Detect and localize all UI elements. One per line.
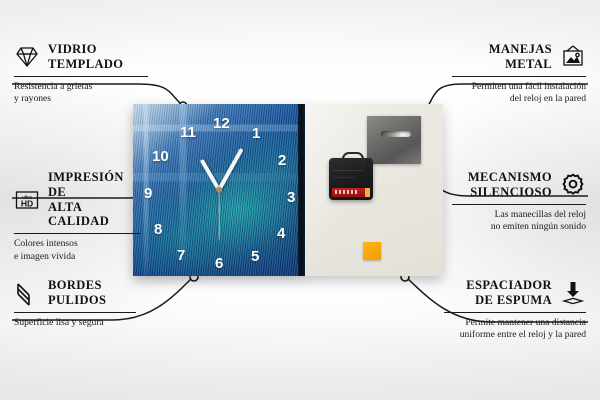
callout-espaciador-espuma: ESPACIADORDE ESPUMA Permite mantener una… [444,278,586,342]
clock-numeral-11: 11 [180,125,196,140]
clock-numeral-2: 2 [278,153,286,168]
callout-vidrio-templado: VIDRIOTEMPLADO Resistencia a grietasy ra… [14,42,148,106]
clock-face-front: 12 1 2 3 4 5 6 7 8 9 10 11 [133,104,305,276]
clock-numeral-6: 6 [215,256,223,271]
clock-second-hand [218,190,219,240]
callout-header: VIDRIOTEMPLADO [14,42,148,72]
callout-description: Permite mantener una distanciauniforme e… [444,317,586,342]
clock-numeral-1: 1 [252,126,260,141]
clock-numeral-12: 12 [213,116,230,131]
clock-numeral-10: 10 [152,149,169,164]
callout-description: Resistencia a grietasy rayones [14,81,148,106]
clock-numeral-4: 4 [277,226,285,241]
down-arrow-stack-icon [560,280,586,306]
clock-numeral-3: 3 [287,190,295,205]
battery-terminal [365,188,370,197]
clock-mechanism-housing [329,158,373,200]
mechanism-hanging-loop [342,152,364,164]
clock-center-cap [216,187,222,193]
callout-title: MECANISMOSILENCIOSO [468,170,552,200]
callout-header: BORDESPULIDOS [14,278,136,308]
callout-header: ESPACIADORDE ESPUMA [444,278,586,308]
infographic-canvas: 12 1 2 3 4 5 6 7 8 9 10 11 [0,0,600,400]
callout-divider [14,76,148,77]
callout-manejas-metal: MANEJASMETAL Permiten una fácil instalac… [452,42,586,106]
callout-impresion-alta-calidad: ultra HD IMPRESIÓN DEALTA CALIDAD Colore… [14,170,140,263]
callout-header: ultra HD IMPRESIÓN DEALTA CALIDAD [14,170,140,229]
callout-mecanismo-silencioso: MECANISMOSILENCIOSO Las manecillas del r… [452,170,586,234]
clock-back-panel [305,104,443,276]
callout-description: Permiten una fácil instalacióndel reloj … [452,81,586,106]
callout-divider [452,76,586,77]
callout-divider [14,312,136,313]
clock-side-edge [298,104,305,276]
callout-description: Las manecillas del relojno emiten ningún… [452,209,586,234]
callout-divider [444,312,586,313]
battery-label [335,190,359,194]
metal-hanger-plate [367,116,421,164]
callout-header: MANEJASMETAL [452,42,586,72]
callout-divider [14,233,140,234]
callout-header: MECANISMOSILENCIOSO [452,170,586,200]
callout-title: IMPRESIÓN DEALTA CALIDAD [48,170,140,229]
mechanism-seam-bottom [333,177,355,178]
callout-bordes-pulidos: BORDESPULIDOS Superficie lisa y segura [14,278,136,329]
callout-description: Colores intensose imagen vívida [14,238,140,263]
callout-title: MANEJASMETAL [489,42,552,72]
callout-title: VIDRIOTEMPLADO [48,42,123,72]
product-image: 12 1 2 3 4 5 6 7 8 9 10 11 [133,104,443,276]
clock-numeral-5: 5 [251,249,259,264]
callout-title: BORDESPULIDOS [48,278,106,308]
svg-text:HD: HD [21,198,33,208]
mechanism-seam-top [333,170,363,171]
gear-icon [560,172,586,198]
orange-foam-spacer [363,242,381,260]
framed-picture-hook-icon [560,44,586,70]
polished-edges-icon [14,280,40,306]
clock-numeral-8: 8 [154,222,162,237]
ultra-hd-icon: ultra HD [14,187,40,213]
diamond-icon [14,44,40,70]
callout-description: Superficie lisa y segura [14,317,136,329]
clock-numeral-7: 7 [177,248,185,263]
clock-numeral-9: 9 [144,186,152,201]
callout-divider [452,204,586,205]
hanger-slot [381,131,411,137]
aa-battery [332,188,370,197]
callout-title: ESPACIADORDE ESPUMA [466,278,552,308]
